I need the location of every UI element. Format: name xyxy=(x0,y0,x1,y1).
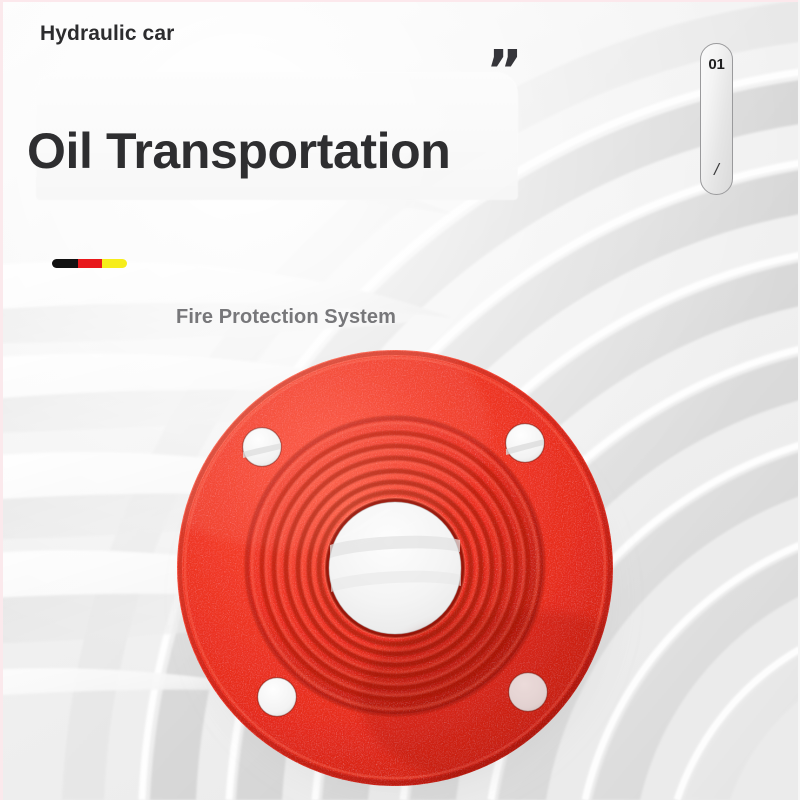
banner-canvas: Hydraulic car Oil Transportation ” Fire … xyxy=(0,0,800,800)
bolt-hole-bottom-left xyxy=(257,677,297,717)
bolt-hole-top-right xyxy=(505,423,545,463)
product-image-flange xyxy=(0,0,800,800)
